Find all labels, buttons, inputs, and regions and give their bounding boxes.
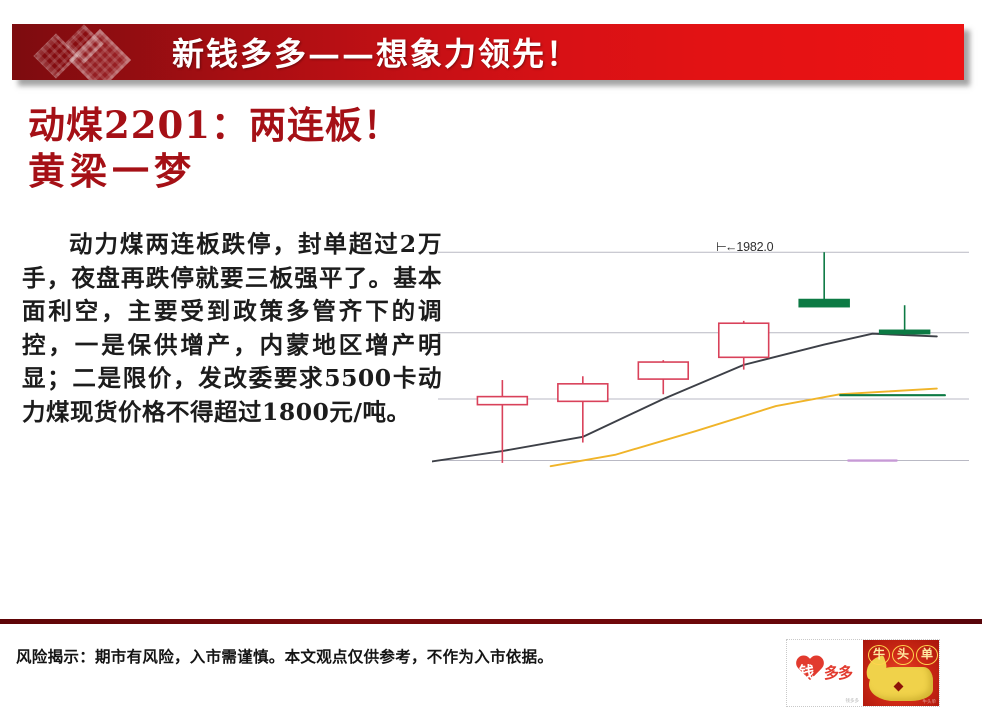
price-label-value: 1982.0: [736, 240, 773, 254]
diamond-lattice-emblem-icon: [34, 26, 162, 80]
logo-niutoudan-char-1: 牛: [868, 645, 890, 665]
overlay-MA-mid: [551, 389, 937, 467]
footer-divider: [0, 619, 982, 624]
candle-D2: [558, 376, 608, 442]
candlestick-chart: [432, 232, 977, 484]
candle-D1: [477, 380, 527, 463]
logo-qianduoduo-mark: 钱多多: [846, 698, 860, 704]
logo-niutoudan-char-2: 头: [892, 645, 914, 665]
price-label-1982: ⊢←1982.0: [716, 239, 773, 254]
chart-candles: [477, 252, 929, 463]
logo-qianduoduo: 钱 多多 钱多多: [787, 640, 863, 706]
logo-niutoudan-mark: 牛头单: [923, 699, 937, 705]
footer-logo-group: 钱 多多 钱多多 牛 头 单 牛头单: [786, 639, 940, 707]
slide-body-text: 动力煤两连板跌停，封单超过2万手，夜盘再跌停就要三板强平了。基本面利空，主要受到…: [22, 228, 442, 430]
candle-D5: [799, 252, 849, 306]
candle-D4: [719, 321, 769, 370]
price-label-arrow-icon: ⊢←: [716, 239, 735, 254]
slide-title-line2: 黄梁一梦: [28, 149, 458, 195]
logo-niutoudan-chars: 牛 头 单: [868, 645, 938, 665]
header-banner: 新钱多多——想象力领先！: [12, 24, 964, 80]
slide-title: 动煤2201：两连板！ 黄梁一梦: [28, 103, 458, 194]
header-title: 新钱多多——想象力领先！: [172, 29, 580, 75]
logo-qianduoduo-heart-char: 钱: [799, 661, 814, 682]
candlestick-chart-svg: [432, 232, 977, 484]
candle-D3: [638, 360, 688, 394]
candle-D6: [880, 305, 930, 335]
footer-disclaimer: 风险揭示：期市有风险，入市需谨慎。本文观点仅供参考，不作为入市依据。: [16, 645, 553, 667]
logo-niutoudan: 牛 头 单 牛头单: [863, 640, 939, 706]
logo-niutoudan-char-3: 单: [916, 645, 938, 665]
logo-qianduoduo-text: 多多: [824, 662, 852, 683]
slide-title-line1: 动煤2201：两连板！: [28, 103, 401, 147]
